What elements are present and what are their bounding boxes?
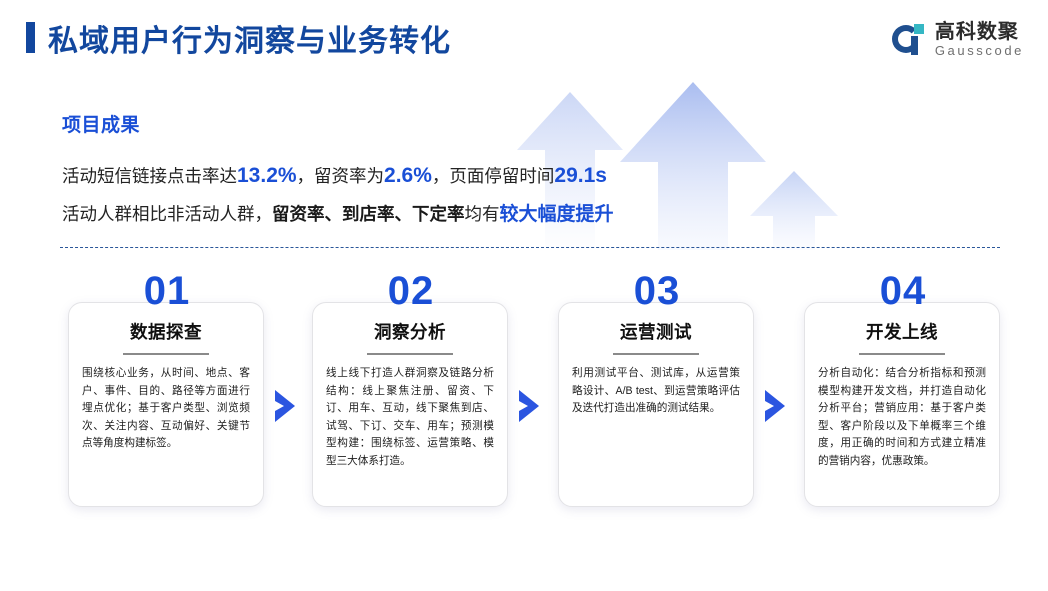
step-card-3[interactable]: 03 运营测试 利用测试平台、测试库，从运营策略设计、A/B test、到运营策…	[558, 302, 754, 507]
results-section: 项目成果 活动短信链接点击率达13.2%，留资率为2.6%，页面停留时间29.1…	[62, 110, 762, 234]
results-line-1: 活动短信链接点击率达13.2%，留资率为2.6%，页面停留时间29.1s	[62, 157, 762, 195]
step-title-4: 开发上线	[805, 319, 999, 344]
results-line1-text3: ，页面停留时间	[432, 166, 555, 186]
chevron-right-icon-1	[272, 389, 298, 423]
section-divider	[60, 247, 1000, 248]
step-rule-4	[859, 353, 945, 355]
steps-section: 01 数据探查 围绕核心业务，从时间、地点、客户、事件、目的、路径等方面进行埋点…	[0, 272, 1048, 522]
page-title: 私域用户行为洞察与业务转化	[48, 16, 451, 60]
step-body-4: 分析自动化：结合分析指标和预测模型构建开发文档，并打造自动化分析平台；营销应用：…	[818, 365, 986, 470]
logo-name-cn: 高科数聚	[935, 22, 1024, 43]
results-line2-text1: 活动人群相比非活动人群，	[62, 204, 272, 224]
logo-text: 高科数聚 Gausscode	[935, 22, 1024, 58]
step-body-1: 围绕核心业务，从时间、地点、客户、事件、目的、路径等方面进行埋点优化；基于客户类…	[82, 365, 250, 453]
results-line1-text1: 活动短信链接点击率达	[62, 166, 237, 186]
results-heading: 项目成果	[62, 110, 762, 137]
chevron-right-icon-2	[516, 389, 542, 423]
header: 私域用户行为洞察与业务转化 高科数聚 Gausscode	[0, 0, 1048, 78]
brand-logo: 高科数聚 Gausscode	[892, 18, 1024, 62]
logo-square-accent	[914, 24, 924, 34]
step-rule-2	[367, 353, 453, 355]
step-body-3: 利用测试平台、测试库，从运营策略设计、A/B test、到运营策略评估及迭代打造…	[572, 365, 740, 418]
step-number-2: 02	[313, 269, 509, 313]
step-body-2: 线上线下打造人群洞察及链路分析结构：线上聚焦注册、留资、下订、用车、互动，线下聚…	[326, 365, 494, 470]
step-number-3: 03	[559, 269, 755, 313]
step-number-1: 01	[69, 269, 265, 313]
step-title-3: 运营测试	[559, 319, 753, 344]
step-card-2[interactable]: 02 洞察分析 线上线下打造人群洞察及链路分析结构：线上聚焦注册、留资、下订、用…	[312, 302, 508, 507]
step-card-1[interactable]: 01 数据探查 围绕核心业务，从时间、地点、客户、事件、目的、路径等方面进行埋点…	[68, 302, 264, 507]
logo-name-en: Gausscode	[935, 43, 1024, 58]
results-line1-text2: ，留资率为	[297, 166, 385, 186]
step-rule-1	[123, 353, 209, 355]
results-line-2: 活动人群相比非活动人群，留资率、到店率、下定率均有较大幅度提升	[62, 195, 762, 234]
step-title-2: 洞察分析	[313, 319, 507, 344]
metric-click-rate: 13.2%	[237, 164, 297, 187]
title-accent-bar	[26, 22, 35, 53]
metric-lead-rate: 2.6%	[384, 164, 432, 187]
chevron-right-icon-3	[762, 389, 788, 423]
step-card-4[interactable]: 04 开发上线 分析自动化：结合分析指标和预测模型构建开发文档，并打造自动化分析…	[804, 302, 1000, 507]
metric-dwell-time: 29.1s	[554, 164, 607, 187]
step-title-1: 数据探查	[69, 319, 263, 344]
step-number-4: 04	[805, 269, 1001, 313]
logo-mark-icon	[892, 23, 926, 57]
results-line2-text2: 均有	[465, 204, 500, 224]
step-rule-3	[613, 353, 699, 355]
logo-stem-shape	[911, 36, 918, 55]
slide-canvas: 私域用户行为洞察与业务转化 高科数聚 Gausscode 项目成果 活动短信链接…	[0, 0, 1048, 591]
results-line2-bold: 留资率、到店率、下定率	[272, 204, 465, 224]
results-line2-highlight: 较大幅度提升	[500, 204, 614, 225]
